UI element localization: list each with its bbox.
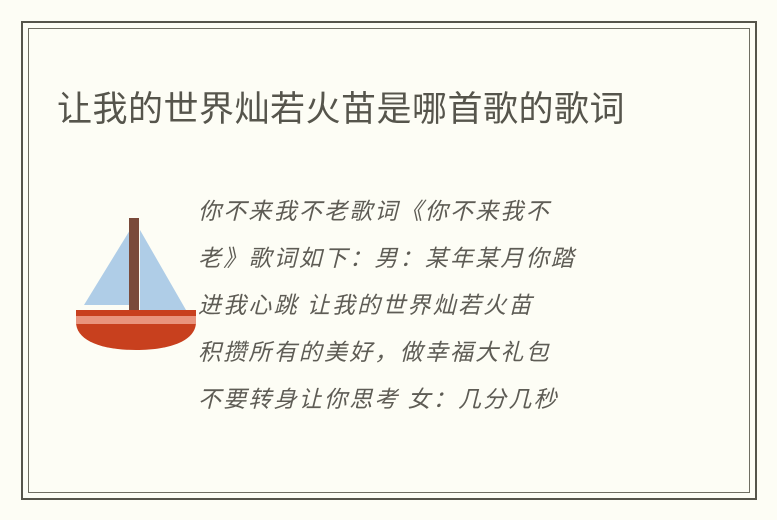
body-line: 积攒所有的美好，做幸福大礼包: [198, 329, 648, 376]
article-page: 让我的世界灿若火苗是哪首歌的歌词 你不来我不老歌词《你不来我不 老》歌词如下：男…: [0, 0, 777, 520]
page-title: 让我的世界灿若火苗是哪首歌的歌词: [57, 85, 657, 135]
hull-stripe-icon: [76, 316, 196, 324]
sail-left-icon: [84, 230, 130, 305]
article-body: 你不来我不老歌词《你不来我不 老》歌词如下：男：某年某月你踏 进我心跳 让我的世…: [198, 188, 648, 423]
body-line: 老》歌词如下：男：某年某月你踏: [198, 235, 648, 282]
sailboat-illustration: [68, 200, 208, 350]
mast-icon: [129, 218, 139, 322]
body-line: 进我心跳 让我的世界灿若火苗: [198, 282, 648, 329]
sailboat-icon: [68, 200, 208, 350]
sail-right-icon: [140, 230, 186, 310]
body-line: 不要转身让你思考 女：几分几秒: [198, 376, 648, 423]
article-content: 让我的世界灿若火苗是哪首歌的歌词 你不来我不老歌词《你不来我不 老》歌词如下：男…: [28, 28, 750, 493]
body-line: 你不来我不老歌词《你不来我不: [198, 188, 648, 235]
